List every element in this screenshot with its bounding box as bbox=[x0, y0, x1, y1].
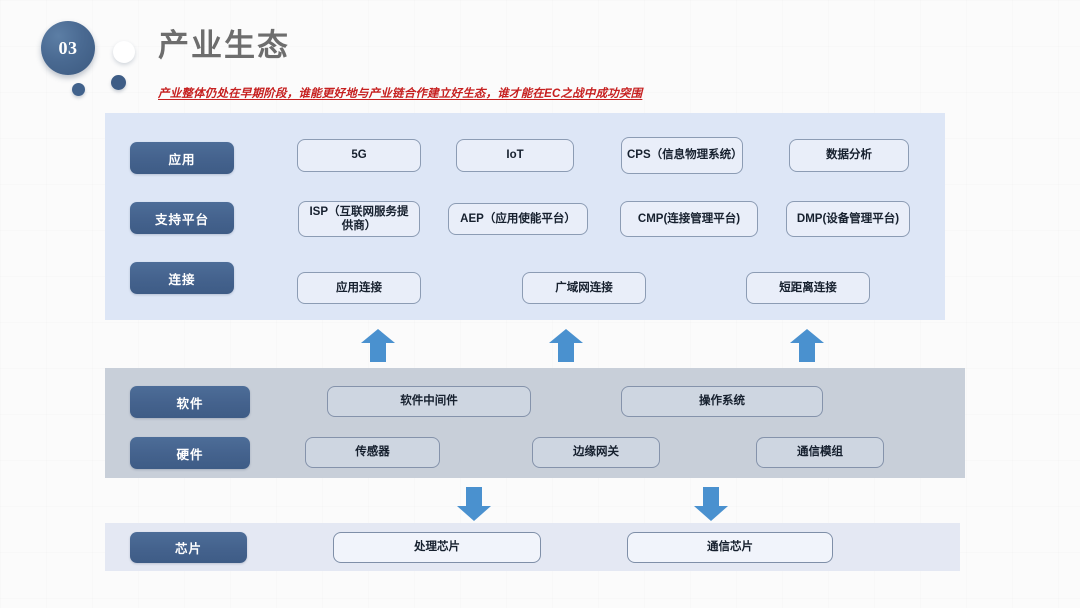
decorative-dot-medium bbox=[111, 75, 126, 90]
item-box-short-range-connection[interactable]: 短距离连接 bbox=[746, 272, 870, 304]
item-label: 应用连接 bbox=[336, 281, 382, 295]
arrow-up-right-icon bbox=[790, 329, 824, 362]
item-label: IoT bbox=[506, 148, 523, 162]
item-box-aep[interactable]: AEP（应用使能平台） bbox=[448, 203, 588, 235]
item-label: CMP(连接管理平台) bbox=[638, 212, 740, 226]
decorative-dot-small bbox=[72, 83, 85, 96]
item-box-edge-gateway[interactable]: 边缘网关 bbox=[532, 437, 660, 468]
item-box-processing-chip[interactable]: 处理芯片 bbox=[333, 532, 541, 563]
category-label: 支持平台 bbox=[155, 209, 209, 228]
arrow-up-left-icon bbox=[361, 329, 395, 362]
arrow-up-center-icon bbox=[549, 329, 583, 362]
category-pill-software[interactable]: 软件 bbox=[130, 386, 250, 418]
item-label: 通信模组 bbox=[797, 445, 843, 459]
category-pill-hardware[interactable]: 硬件 bbox=[130, 437, 250, 469]
item-box-sensor[interactable]: 传感器 bbox=[305, 437, 440, 468]
item-label: 短距离连接 bbox=[779, 281, 837, 295]
item-label: 操作系统 bbox=[699, 394, 745, 408]
decorative-circle-white bbox=[113, 41, 135, 63]
item-label: AEP（应用使能平台） bbox=[460, 212, 576, 226]
item-box-data-analytics[interactable]: 数据分析 bbox=[789, 139, 909, 172]
item-label: 通信芯片 bbox=[707, 540, 753, 554]
arrow-down-left-icon bbox=[457, 487, 491, 521]
item-label: CPS（信息物理系统） bbox=[627, 148, 737, 162]
item-label: 传感器 bbox=[355, 445, 390, 459]
item-label: DMP(设备管理平台) bbox=[797, 212, 899, 226]
slide-header: 03 产业生态 产业整体仍处在早期阶段，谁能更好地与产业链合作建立好生态，谁才能… bbox=[0, 0, 1080, 112]
item-label: 边缘网关 bbox=[573, 445, 619, 459]
item-box-application-connection[interactable]: 应用连接 bbox=[297, 272, 421, 304]
item-label: 软件中间件 bbox=[400, 394, 458, 408]
category-pill-support-platform[interactable]: 支持平台 bbox=[130, 202, 234, 234]
item-box-dmp[interactable]: DMP(设备管理平台) bbox=[786, 201, 910, 237]
category-pill-application[interactable]: 应用 bbox=[130, 142, 234, 174]
item-label: 广域网连接 bbox=[555, 281, 613, 295]
item-box-communication-chip[interactable]: 通信芯片 bbox=[627, 532, 833, 563]
item-box-communication-module[interactable]: 通信模组 bbox=[756, 437, 884, 468]
item-label: 处理芯片 bbox=[414, 540, 460, 554]
page-title: 产业生态 bbox=[158, 29, 290, 63]
item-box-wan-connection[interactable]: 广域网连接 bbox=[522, 272, 646, 304]
slide-number-badge: 03 bbox=[41, 21, 95, 75]
item-label: 5G bbox=[351, 148, 366, 162]
category-label: 软件 bbox=[176, 393, 203, 412]
category-pill-connectivity[interactable]: 连接 bbox=[130, 262, 234, 294]
item-box-operating-system[interactable]: 操作系统 bbox=[621, 386, 823, 417]
item-label: 数据分析 bbox=[826, 148, 872, 162]
category-label: 连接 bbox=[168, 269, 195, 288]
category-pill-chip[interactable]: 芯片 bbox=[130, 532, 247, 563]
item-box-cmp[interactable]: CMP(连接管理平台) bbox=[620, 201, 758, 237]
category-label: 应用 bbox=[168, 149, 195, 168]
category-label: 芯片 bbox=[175, 538, 202, 557]
item-box-software-middleware[interactable]: 软件中间件 bbox=[327, 386, 531, 417]
slide-number-text: 03 bbox=[59, 38, 78, 59]
page-subtitle: 产业整体仍处在早期阶段，谁能更好地与产业链合作建立好生态，谁才能在EC之战中成功… bbox=[158, 85, 642, 101]
item-box-cps[interactable]: CPS（信息物理系统） bbox=[621, 137, 743, 174]
category-label: 硬件 bbox=[176, 444, 203, 463]
item-box-iot[interactable]: IoT bbox=[456, 139, 574, 172]
item-label: ISP（互联网服务提供商） bbox=[304, 205, 414, 234]
arrow-down-right-icon bbox=[694, 487, 728, 521]
item-box-isp[interactable]: ISP（互联网服务提供商） bbox=[298, 201, 420, 237]
item-box-5g[interactable]: 5G bbox=[297, 139, 421, 172]
